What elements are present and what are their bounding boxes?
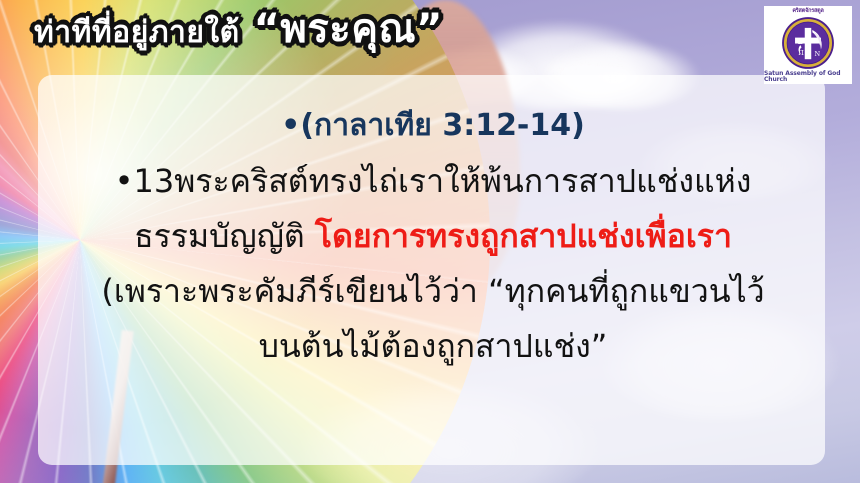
body-line-4-segment-1: บนต้นไม้ต้องถูกสาปแช่ง” bbox=[259, 327, 608, 365]
body-line-1-segment-1: •13พระคริสต์ทรงไถ่เราให้พ้นการสาปแช่งแห่… bbox=[115, 162, 752, 200]
scripture-reference: •(กาลาเทีย 3:12-14) bbox=[48, 98, 818, 154]
body-line-2-highlight: โดยการทรงถูกสาปแช่งเพื่อเรา bbox=[315, 217, 732, 255]
body-line-2-segment-1: ธรรมบัญญัติ bbox=[134, 217, 315, 255]
title-quoted-text: “พระคุณ” bbox=[254, 8, 443, 50]
svg-text:E: E bbox=[798, 37, 803, 46]
svg-text:N: N bbox=[814, 49, 820, 57]
presentation-slide: ท่าทีที่อยู่ภายใต้ “พระคุณ” คริสตจักรสตู… bbox=[0, 0, 860, 483]
slide-title: ท่าทีที่อยู่ภายใต้ “พระคุณ” bbox=[34, 8, 443, 50]
body-line-4: บนต้นไม้ต้องถูกสาปแช่ง” bbox=[48, 319, 818, 374]
svg-text:Π: Π bbox=[798, 48, 804, 56]
slide-body: •(กาลาเทีย 3:12-14) •13พระคริสต์ทรงไถ่เร… bbox=[48, 98, 818, 374]
logo-english-name: Satun Assembly of God Church bbox=[764, 71, 852, 83]
logo-thai-name: คริสตจักรสตูล bbox=[792, 9, 823, 15]
body-line-3: (เพราะพระคัมภีร์เขียนไว้ว่า “ทุกคนที่ถูก… bbox=[48, 264, 818, 319]
body-line-1: •13พระคริสต์ทรงไถ่เราให้พ้นการสาปแช่งแห่… bbox=[48, 154, 818, 209]
church-logo: คริสตจักรสตูล E Π N Satun Assembly of Go… bbox=[764, 6, 852, 84]
title-main-text: ท่าทีที่อยู่ภายใต้ bbox=[34, 17, 240, 49]
body-line-2: ธรรมบัญญัติ โดยการทรงถูกสาปแช่งเพื่อเรา bbox=[48, 209, 818, 264]
logo-emblem-icon: E Π N bbox=[781, 16, 835, 70]
body-line-3-segment-1: (เพราะพระคัมภีร์เขียนไว้ว่า “ทุกคนที่ถูก… bbox=[101, 272, 764, 310]
